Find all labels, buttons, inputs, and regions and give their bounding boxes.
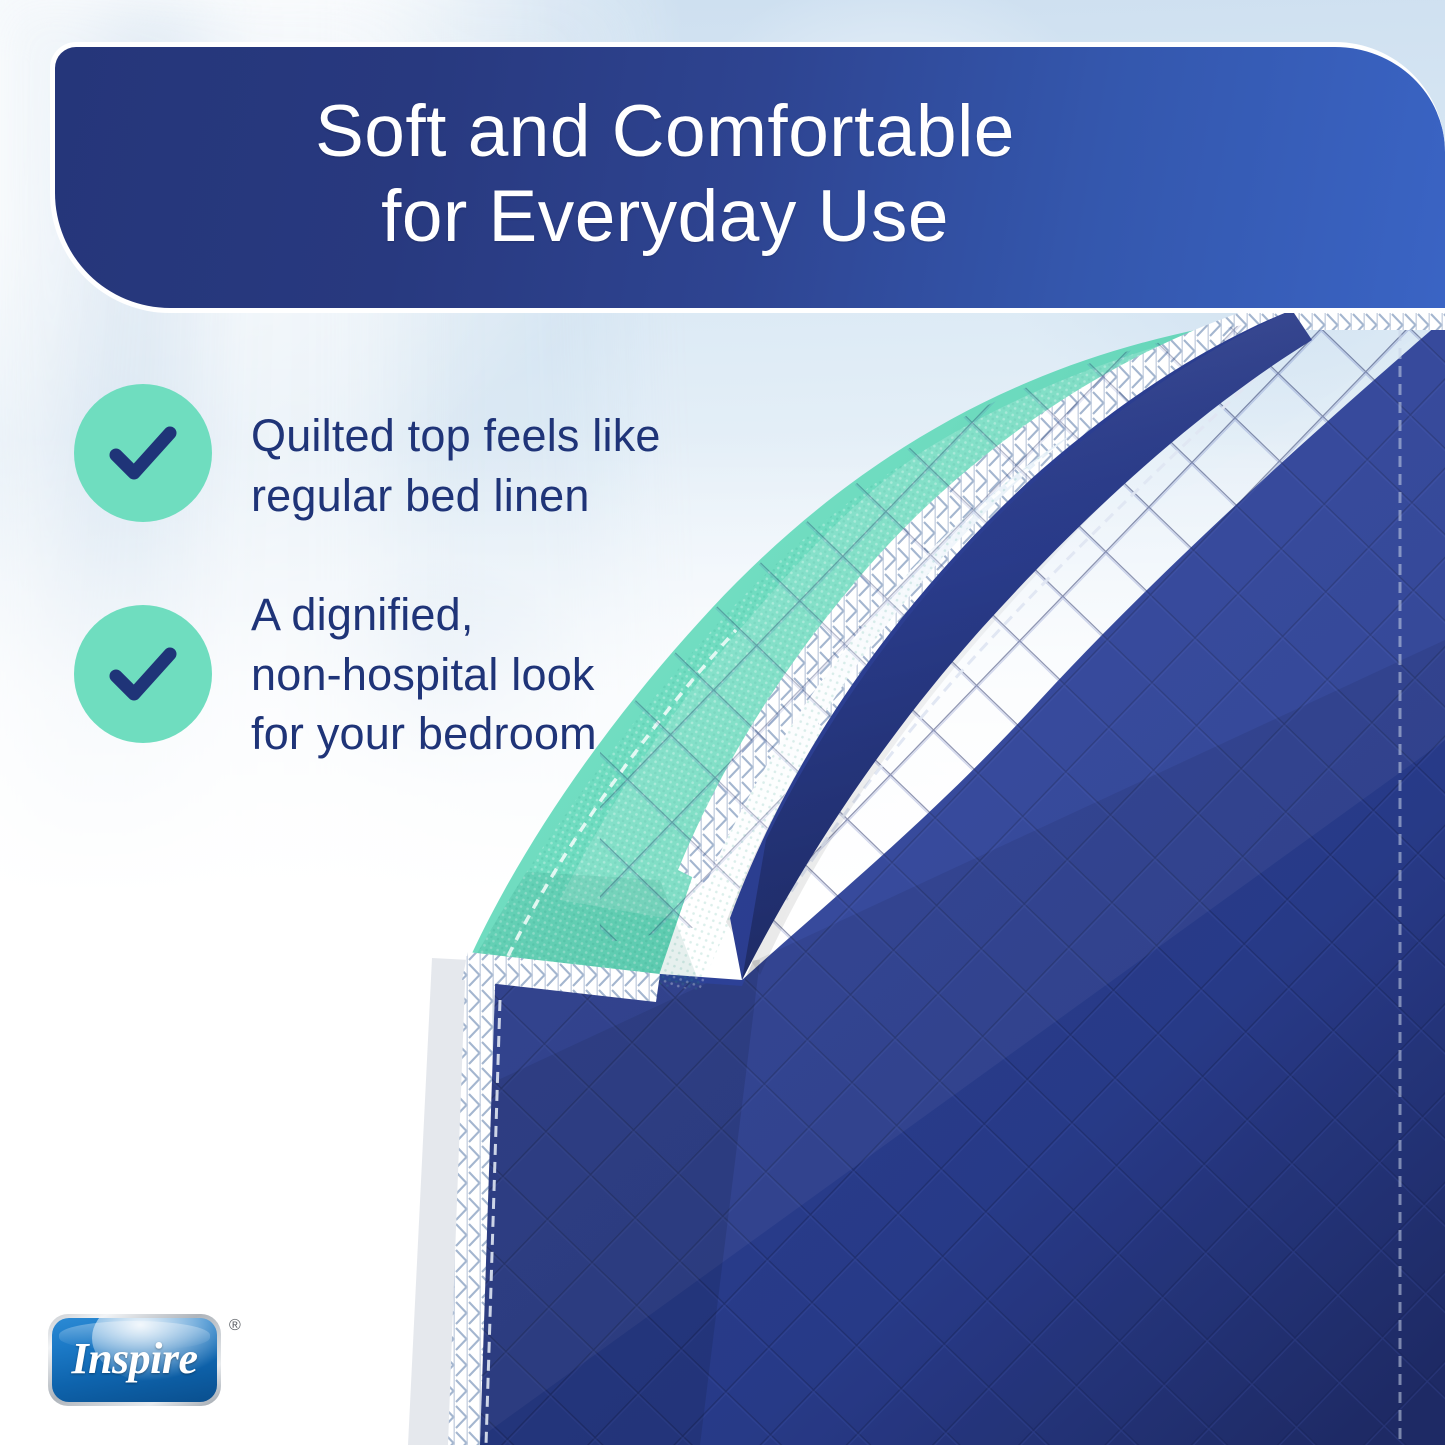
check-icon — [74, 384, 212, 522]
header-banner: Soft and Comfortable for Everyday Use — [50, 42, 1445, 313]
list-item-label: Quilted top feels like regular bed linen — [251, 384, 661, 526]
logo-plate: Inspire — [48, 1314, 221, 1406]
logo-wordmark: Inspire — [52, 1318, 217, 1402]
product-marketing-image: Soft and Comfortable for Everyday Use Qu… — [0, 0, 1445, 1445]
feature-list: Quilted top feels like regular bed linen… — [74, 384, 774, 821]
registered-trademark-symbol: ® — [229, 1318, 241, 1334]
check-icon — [74, 605, 212, 743]
logo-inner: Inspire — [52, 1318, 217, 1402]
list-item-label: A dignified, non-hospital look for your … — [251, 583, 597, 765]
list-item: Quilted top feels like regular bed linen — [74, 384, 774, 526]
page-title: Soft and Comfortable for Everyday Use — [315, 90, 1185, 265]
brand-logo: Inspire ® — [48, 1314, 240, 1406]
list-item: A dignified, non-hospital look for your … — [74, 583, 774, 765]
